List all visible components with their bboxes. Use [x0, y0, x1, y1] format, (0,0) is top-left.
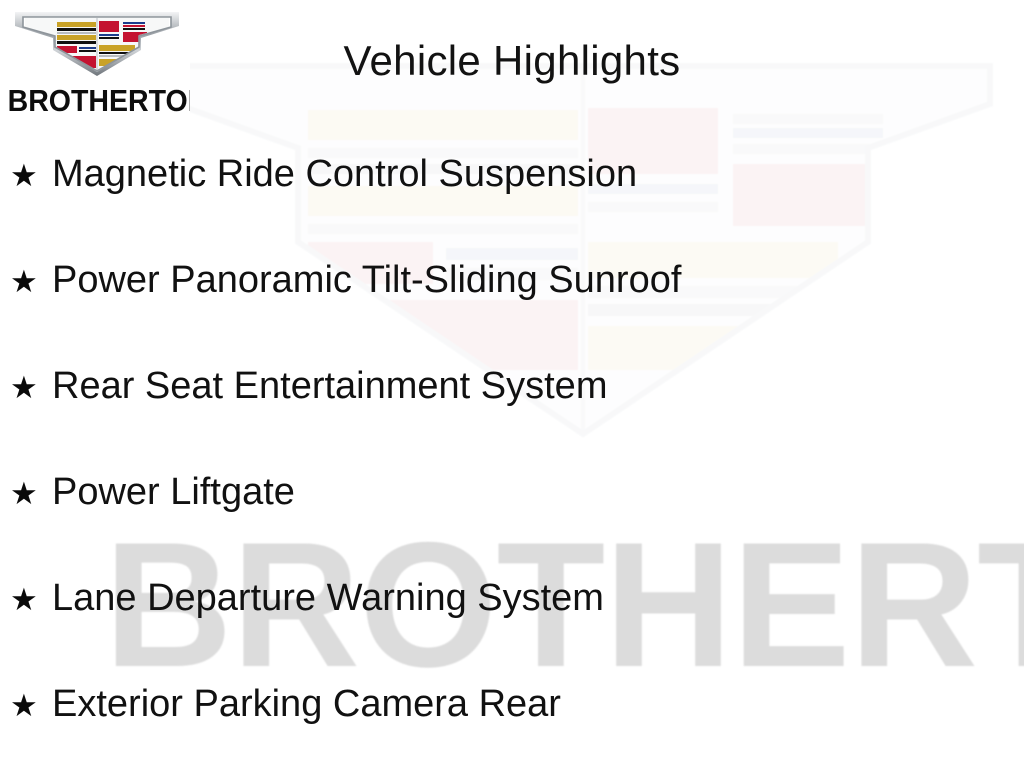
- list-item: ★ Lane Departure Warning System: [0, 576, 1024, 682]
- list-item-label: Rear Seat Entertainment System: [52, 364, 607, 408]
- star-bullet-icon: ★: [10, 157, 52, 195]
- list-item: ★ Magnetic Ride Control Suspension: [0, 152, 1024, 258]
- star-bullet-icon: ★: [10, 369, 52, 407]
- list-item-label: Magnetic Ride Control Suspension: [52, 152, 637, 196]
- vehicle-highlights-slide: BROTHERTON: [0, 0, 1024, 768]
- star-bullet-icon: ★: [10, 581, 52, 619]
- list-item: ★ Rear Seat Entertainment System: [0, 364, 1024, 470]
- list-item-label: Exterior Parking Camera Rear: [52, 682, 561, 726]
- list-item-label: Power Panoramic Tilt-Sliding Sunroof: [52, 258, 681, 302]
- vehicle-highlights-list: ★ Magnetic Ride Control Suspension ★ Pow…: [0, 152, 1024, 768]
- list-item: ★ Power Liftgate: [0, 470, 1024, 576]
- dealer-logo: BROTHERTON: [0, 0, 190, 126]
- star-bullet-icon: ★: [10, 687, 52, 725]
- list-item-label: Lane Departure Warning System: [52, 576, 604, 620]
- dealer-name: BROTHERTON: [8, 84, 183, 118]
- list-item: ★ Exterior Parking Camera Rear: [0, 682, 1024, 768]
- star-bullet-icon: ★: [10, 263, 52, 301]
- list-item: ★ Power Panoramic Tilt-Sliding Sunroof: [0, 258, 1024, 364]
- star-bullet-icon: ★: [10, 475, 52, 513]
- list-item-label: Power Liftgate: [52, 470, 295, 514]
- cadillac-crest-icon: [13, 6, 181, 76]
